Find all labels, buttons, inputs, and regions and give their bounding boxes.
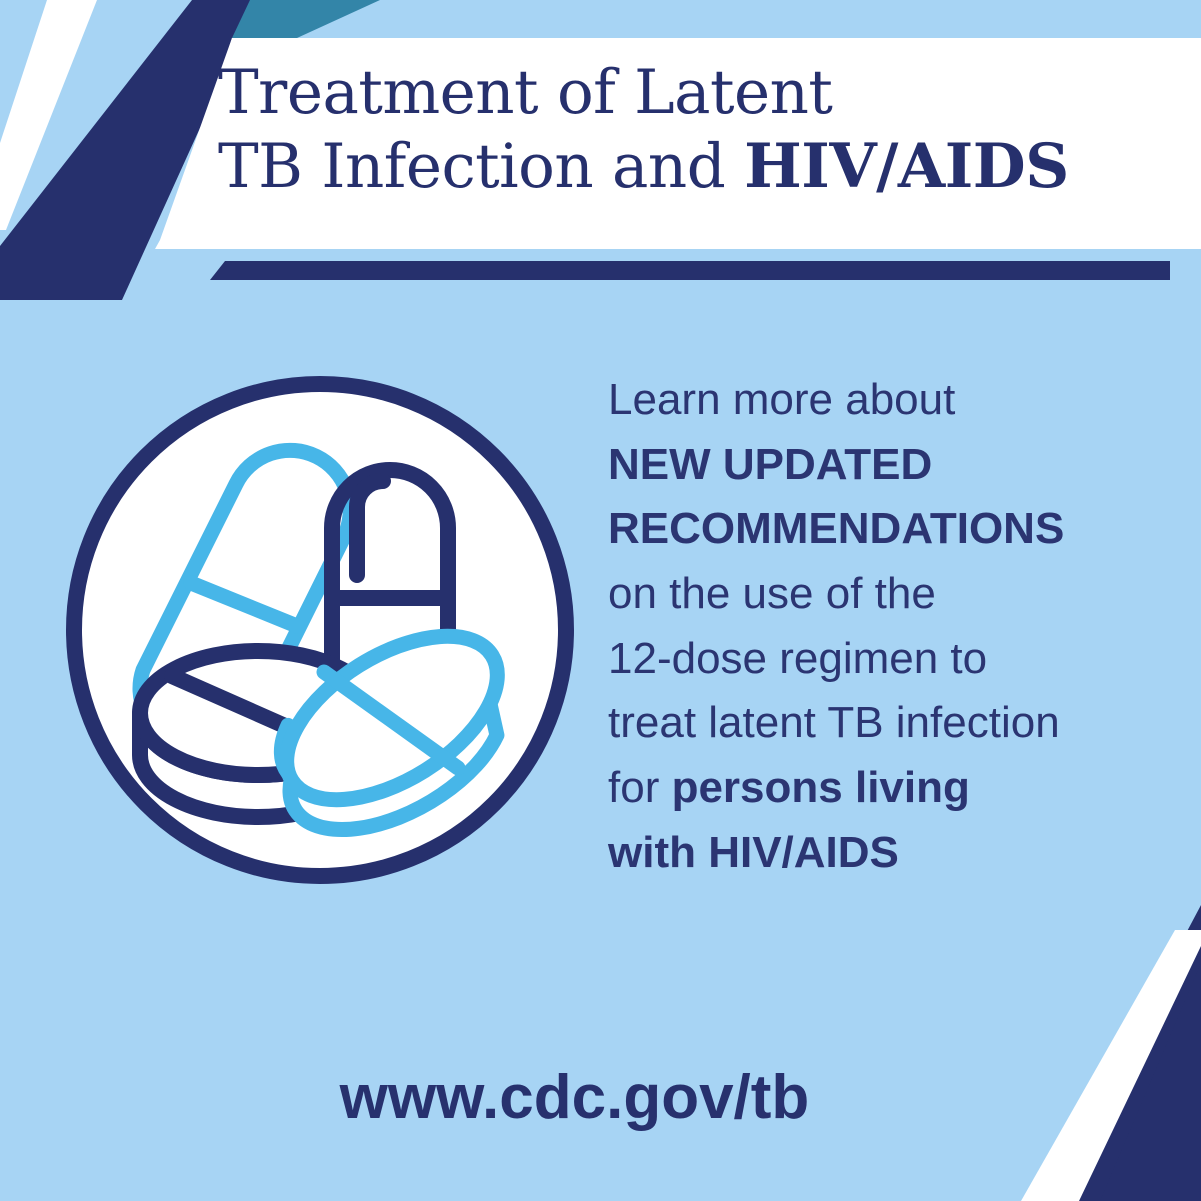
title-line-2-bold: HIV/AIDS [744, 131, 1069, 202]
body-line-8: with HIV/AIDS [608, 821, 1168, 886]
body-line-2: NEW UPDATED [608, 433, 1168, 498]
pills-and-tablets-icon [60, 370, 580, 890]
header-navy-rule [210, 261, 1170, 280]
title-line-2: TB Infection and HIV/AIDS [218, 130, 1178, 204]
body-line-7-bold: persons living [672, 763, 970, 812]
header: Treatment of Latent TB Infection and HIV… [0, 0, 1201, 300]
cdc-url[interactable]: www.cdc.gov/tb [0, 1062, 1201, 1133]
body-line-5: 12-dose regimen to [608, 627, 1168, 692]
cdc-url-text: www.cdc.gov/tb [340, 1062, 810, 1133]
body-line-4: on the use of the [608, 562, 1168, 627]
body-line-3: RECOMMENDATIONS [608, 497, 1168, 562]
bottom-right-navy-wedge [1044, 905, 1201, 1201]
title-line-2-regular: TB Infection and [218, 131, 744, 202]
body-line-6: treat latent TB infection [608, 691, 1168, 756]
body-line-7: for persons living [608, 756, 1168, 821]
poster-canvas: Treatment of Latent TB Infection and HIV… [0, 0, 1201, 1201]
body-copy: Learn more about NEW UPDATED RECOMMENDAT… [608, 368, 1168, 885]
body-line-7-regular: for [608, 763, 672, 812]
title-line-1: Treatment of Latent [218, 56, 1178, 130]
page-title: Treatment of Latent TB Infection and HIV… [218, 56, 1178, 205]
body-line-1: Learn more about [608, 368, 1168, 433]
